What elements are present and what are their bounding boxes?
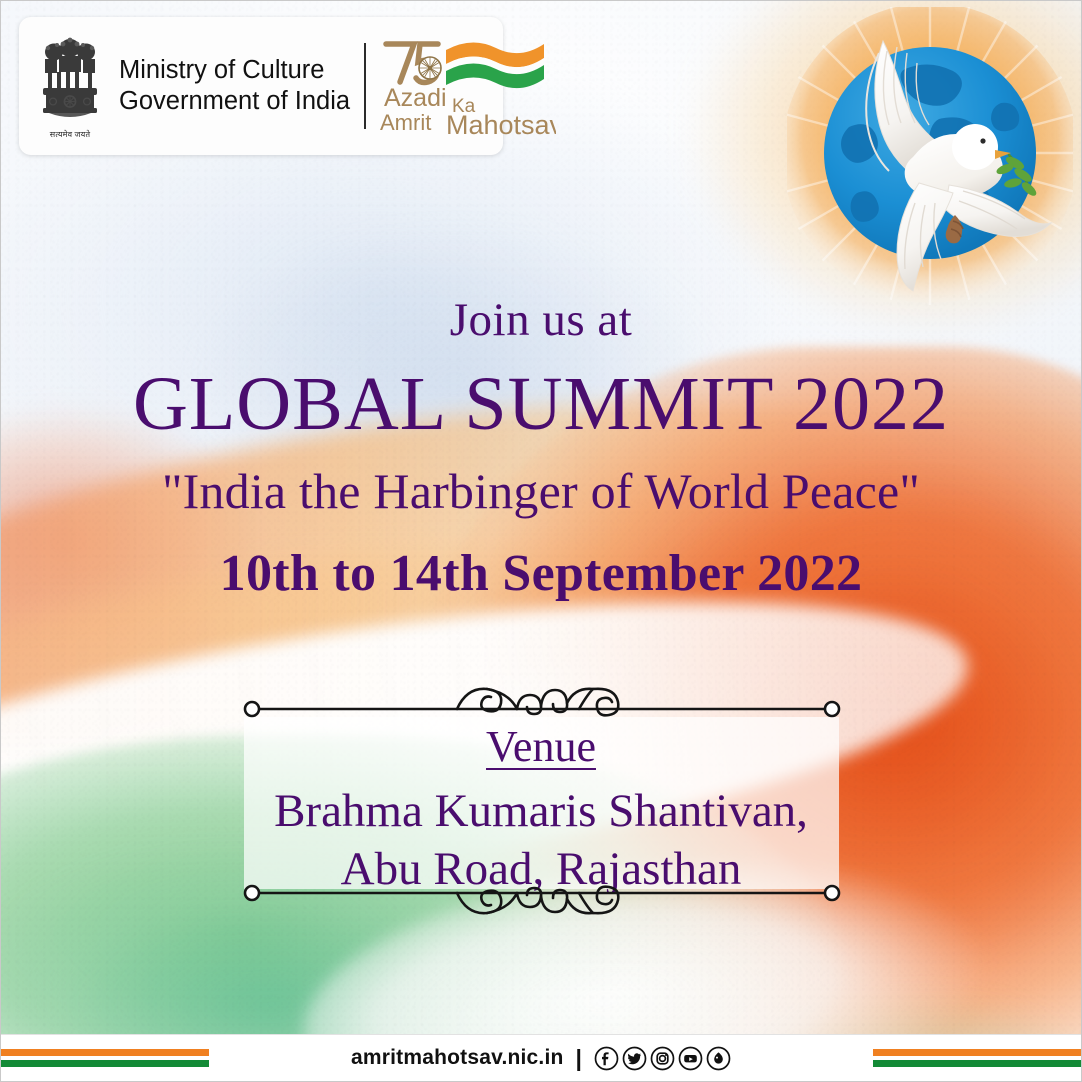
social-links xyxy=(594,1046,731,1071)
tricolour-stripes-left xyxy=(1,1047,209,1069)
koo-icon[interactable] xyxy=(706,1046,731,1071)
ministry-logo-card: सत्यमेव जयते Ministry of Culture Governm… xyxy=(19,17,503,155)
ashoka-emblem-icon: सत्यमेव जयते xyxy=(33,30,107,142)
venue-line-1: Brahma Kumaris Shantivan, xyxy=(1,783,1081,840)
facebook-icon[interactable] xyxy=(594,1046,619,1071)
footer-separator: | xyxy=(576,1045,582,1072)
svg-text:Mahotsav: Mahotsav xyxy=(446,110,556,140)
youtube-icon[interactable] xyxy=(678,1046,703,1071)
divider-top-ornament xyxy=(243,679,841,725)
summit-theme: "India the Harbinger of World Peace" xyxy=(1,462,1081,521)
venue-label: Venue xyxy=(1,723,1081,771)
summit-dates: 10th to 14th September 2022 xyxy=(1,543,1081,604)
dove-globe-illustration xyxy=(787,7,1073,327)
azadi-ka-amrit-mahotsav-logo: Azadi Ka Amrit Mahotsav xyxy=(380,32,556,140)
venue-block: Venue Brahma Kumaris Shantivan, Abu Road… xyxy=(1,723,1081,898)
headline-block: Join us at GLOBAL SUMMIT 2022 "India the… xyxy=(1,297,1081,604)
logo-divider xyxy=(364,43,366,129)
page-title: GLOBAL SUMMIT 2022 xyxy=(1,360,1081,450)
ministry-line-2: Government of India xyxy=(119,86,350,117)
instagram-icon[interactable] xyxy=(650,1046,675,1071)
ministry-line-1: Ministry of Culture xyxy=(119,55,350,86)
website-url[interactable]: amritmahotsav.nic.in xyxy=(351,1046,564,1070)
emblem-motto: सत्यमेव जयते xyxy=(50,129,91,140)
svg-text:Amrit: Amrit xyxy=(380,110,431,135)
footer-bar: amritmahotsav.nic.in | xyxy=(1,1034,1081,1081)
tricolour-stripes-right xyxy=(873,1047,1081,1069)
svg-text:Azadi: Azadi xyxy=(384,84,447,112)
poster-canvas: सत्यमेव जयते Ministry of Culture Governm… xyxy=(0,0,1082,1082)
ministry-name: Ministry of Culture Government of India xyxy=(107,55,350,117)
divider-bottom-ornament xyxy=(243,879,841,925)
join-us-text: Join us at xyxy=(1,297,1081,344)
twitter-icon[interactable] xyxy=(622,1046,647,1071)
